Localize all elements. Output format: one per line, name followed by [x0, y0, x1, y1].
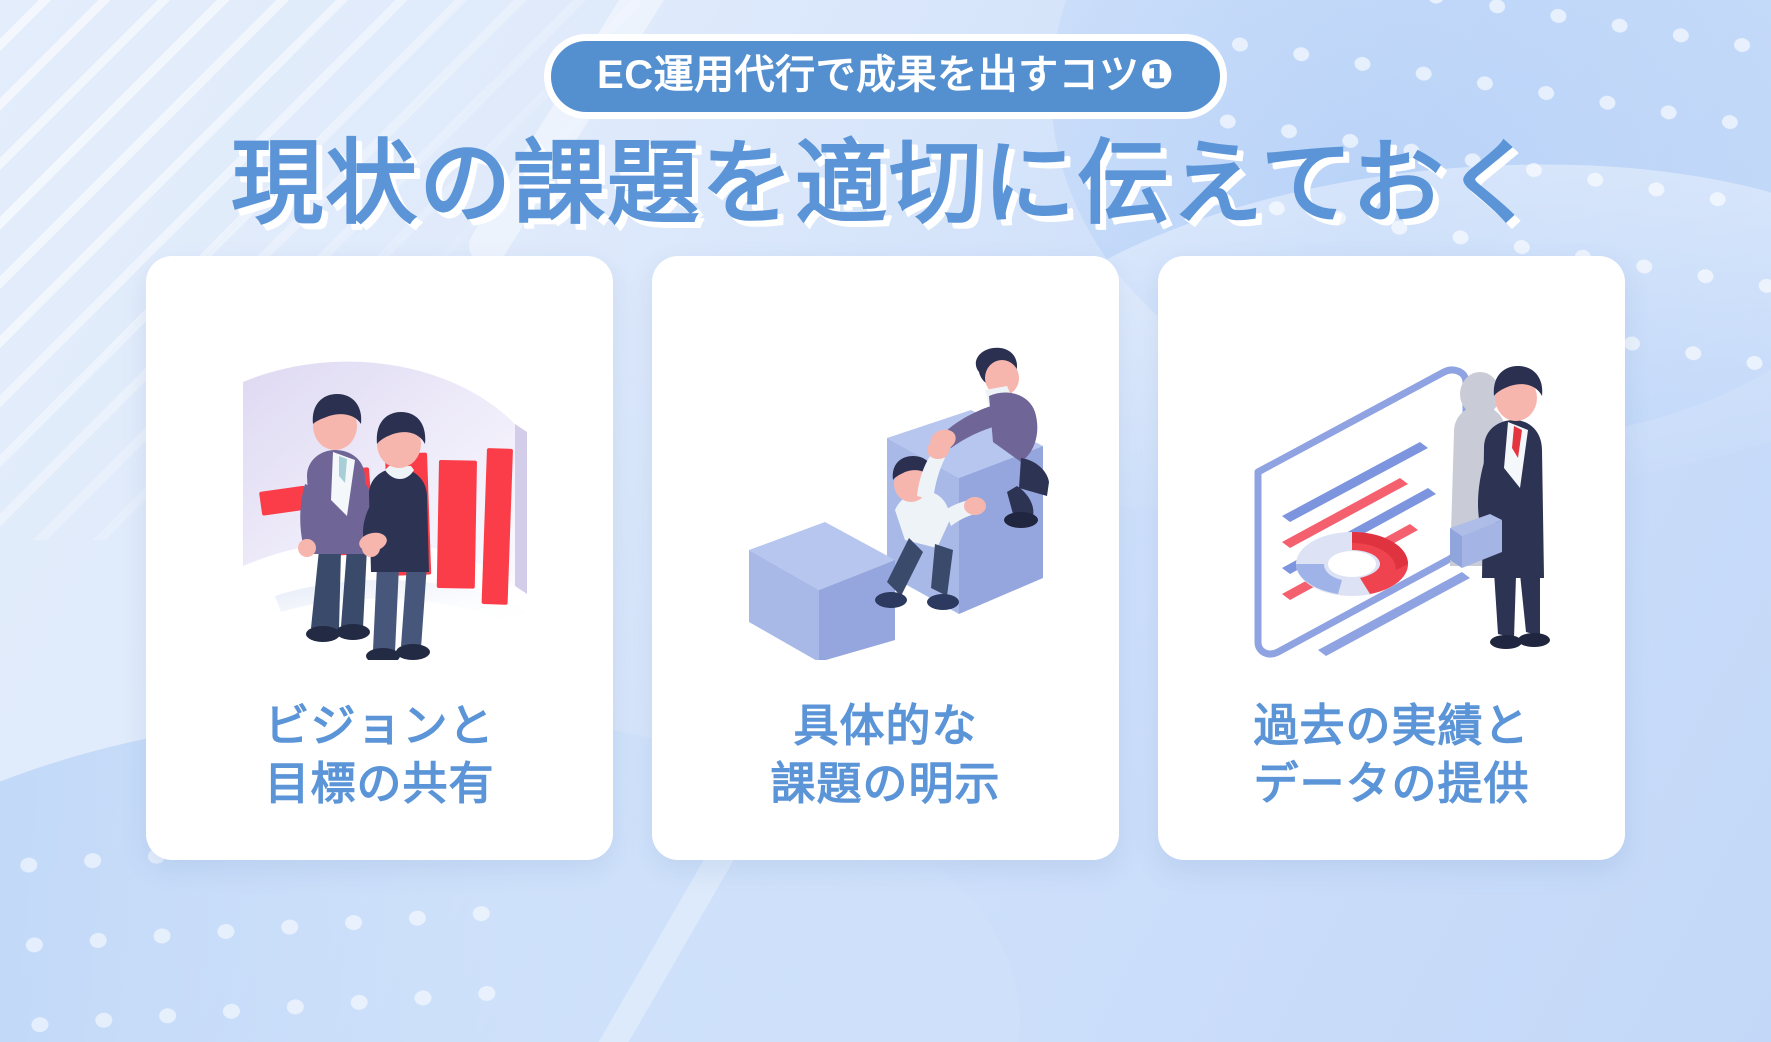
card-past-results-data[interactable]: 過去の実績と データの提供 [1158, 256, 1625, 860]
header: EC運用代行で成果を出すコツ❶ 現状の課題を適切に伝えておく [0, 0, 1771, 234]
card-row: ビジョンと 目標の共有 [0, 256, 1771, 860]
card-vision-goal-sharing[interactable]: ビジョンと 目標の共有 [146, 256, 613, 860]
card-illustration-handshake [164, 282, 595, 697]
infographic-stage: EC運用代行で成果を出すコツ❶ 現状の課題を適切に伝えておく [0, 0, 1771, 1042]
page-title: 現状の課題を適切に伝えておく [0, 135, 1771, 234]
card-illustration-dashboard [1176, 282, 1607, 697]
short-block [749, 522, 895, 660]
climbing-blocks-icon [721, 320, 1051, 660]
card-label: 具体的な 課題の明示 [770, 697, 1000, 830]
header-badge: EC運用代行で成果を出すコツ❶ [544, 34, 1227, 119]
card-label-line1: ビジョンと [264, 700, 494, 751]
donut-chart [1296, 532, 1408, 596]
card-label-line1: 具体的な [793, 700, 977, 751]
person-presenter [1450, 366, 1550, 649]
card-label: ビジョンと 目標の共有 [264, 697, 494, 830]
dashboard-data-icon [1222, 320, 1562, 660]
handshake-bar-chart-icon [215, 320, 545, 660]
card-label-line2: 課題の明示 [770, 755, 1000, 813]
card-label: 過去の実績と データの提供 [1253, 697, 1529, 830]
card-label-line2: データの提供 [1253, 755, 1529, 813]
card-concrete-issue-clarification[interactable]: 具体的な 課題の明示 [652, 256, 1119, 860]
card-label-line2: 目標の共有 [264, 755, 494, 813]
card-label-line1: 過去の実績と [1253, 700, 1529, 751]
card-illustration-climbing [670, 282, 1101, 697]
dashboard-panel [1258, 370, 1466, 654]
